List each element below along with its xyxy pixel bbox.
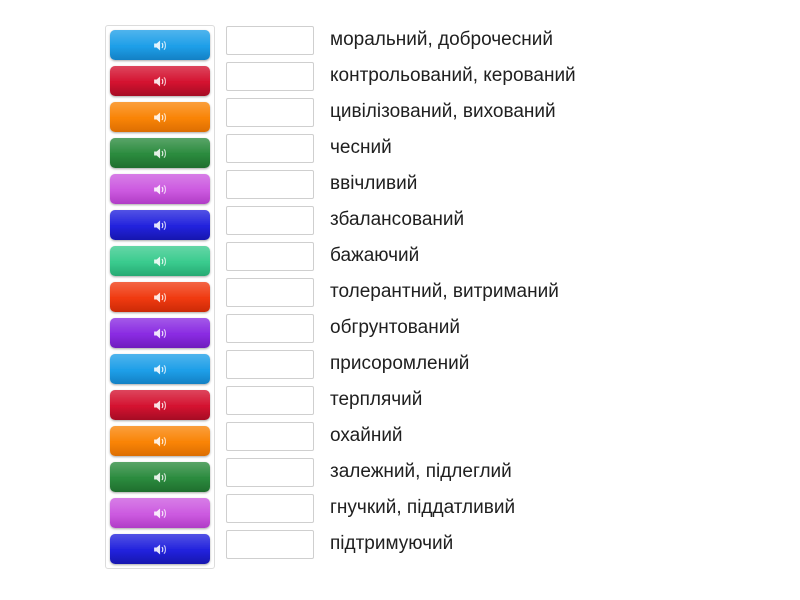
speaker-icon: [152, 109, 169, 126]
audio-play-button-3[interactable]: [110, 102, 210, 132]
speaker-icon: [152, 145, 169, 162]
speaker-icon: [152, 289, 169, 306]
word-row: бажаючий: [226, 241, 786, 271]
audio-play-button-14[interactable]: [110, 498, 210, 528]
audio-play-button-11[interactable]: [110, 390, 210, 420]
speaker-icon: [152, 361, 169, 378]
word-row: цивілізований, вихований: [226, 97, 786, 127]
audio-play-button-4[interactable]: [110, 138, 210, 168]
audio-button-tray: [105, 25, 215, 569]
word-label: бажаючий: [330, 245, 419, 267]
audio-play-button-12[interactable]: [110, 426, 210, 456]
audio-play-button-1[interactable]: [110, 30, 210, 60]
answer-drop-box-8[interactable]: [226, 278, 314, 307]
answer-drop-box-1[interactable]: [226, 26, 314, 55]
answer-drop-box-4[interactable]: [226, 134, 314, 163]
answer-drop-box-14[interactable]: [226, 494, 314, 523]
word-label: присоромлений: [330, 353, 469, 375]
speaker-icon: [152, 217, 169, 234]
word-row: підтримуючий: [226, 529, 786, 559]
word-label: толерантний, витриманий: [330, 281, 559, 303]
speaker-icon: [152, 181, 169, 198]
word-label: залежний, підлеглий: [330, 461, 512, 483]
speaker-icon: [152, 397, 169, 414]
word-label: терплячий: [330, 389, 422, 411]
word-label: цивілізований, вихований: [330, 101, 556, 123]
speaker-icon: [152, 469, 169, 486]
audio-play-button-6[interactable]: [110, 210, 210, 240]
speaker-icon: [152, 37, 169, 54]
word-row: присоромлений: [226, 349, 786, 379]
word-label: підтримуючий: [330, 533, 453, 555]
word-label: чесний: [330, 137, 392, 159]
word-row: моральний, доброчесний: [226, 25, 786, 55]
answer-drop-box-5[interactable]: [226, 170, 314, 199]
audio-play-button-5[interactable]: [110, 174, 210, 204]
audio-play-button-8[interactable]: [110, 282, 210, 312]
word-row-list: моральний, доброчеснийконтрольований, ке…: [226, 25, 786, 559]
word-label: моральний, доброчесний: [330, 29, 553, 51]
word-label: ввічливий: [330, 173, 417, 195]
word-row: гнучкий, піддатливий: [226, 493, 786, 523]
answer-drop-box-12[interactable]: [226, 422, 314, 451]
word-label: контрольований, керований: [330, 65, 576, 87]
word-row: збалансований: [226, 205, 786, 235]
answer-drop-box-2[interactable]: [226, 62, 314, 91]
audio-play-button-13[interactable]: [110, 462, 210, 492]
speaker-icon: [152, 541, 169, 558]
answer-drop-box-11[interactable]: [226, 386, 314, 415]
speaker-icon: [152, 253, 169, 270]
speaker-icon: [152, 505, 169, 522]
audio-play-button-15[interactable]: [110, 534, 210, 564]
speaker-icon: [152, 433, 169, 450]
word-row: ввічливий: [226, 169, 786, 199]
word-row: терплячий: [226, 385, 786, 415]
word-label: гнучкий, піддатливий: [330, 497, 515, 519]
match-activity: моральний, доброчеснийконтрольований, ке…: [0, 0, 800, 600]
answer-drop-box-9[interactable]: [226, 314, 314, 343]
word-row: толерантний, витриманий: [226, 277, 786, 307]
answer-drop-box-6[interactable]: [226, 206, 314, 235]
answer-drop-box-10[interactable]: [226, 350, 314, 379]
answer-drop-box-13[interactable]: [226, 458, 314, 487]
audio-play-button-2[interactable]: [110, 66, 210, 96]
speaker-icon: [152, 325, 169, 342]
audio-play-button-7[interactable]: [110, 246, 210, 276]
audio-play-button-10[interactable]: [110, 354, 210, 384]
word-label: збалансований: [330, 209, 464, 231]
word-label: охайний: [330, 425, 403, 447]
speaker-icon: [152, 73, 169, 90]
word-row: чесний: [226, 133, 786, 163]
audio-play-button-9[interactable]: [110, 318, 210, 348]
word-label: обгрунтований: [330, 317, 460, 339]
word-row: контрольований, керований: [226, 61, 786, 91]
word-row: залежний, підлеглий: [226, 457, 786, 487]
word-row: обгрунтований: [226, 313, 786, 343]
answer-drop-box-3[interactable]: [226, 98, 314, 127]
answer-drop-box-7[interactable]: [226, 242, 314, 271]
answer-drop-box-15[interactable]: [226, 530, 314, 559]
word-row: охайний: [226, 421, 786, 451]
